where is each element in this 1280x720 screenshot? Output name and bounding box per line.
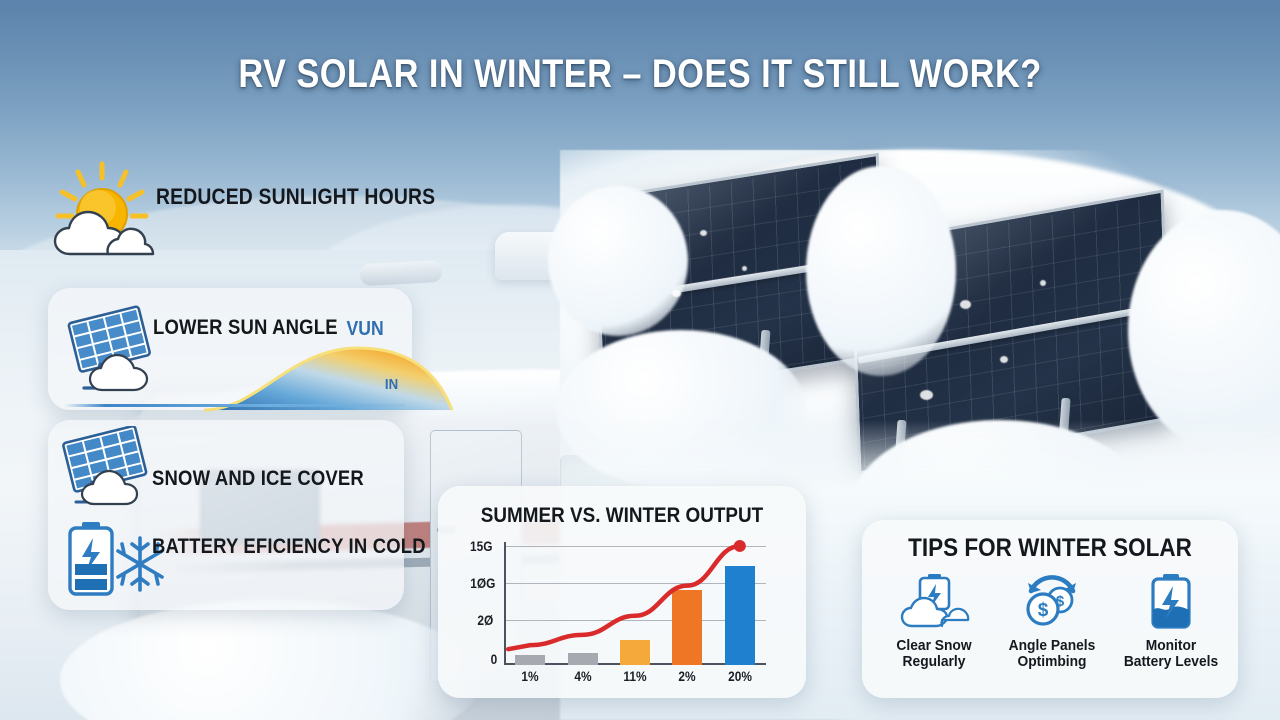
- infographic-canvas: RV SOLAR IN WINTER – DOES IT STILL WORK?…: [0, 0, 1280, 720]
- tip-label-line2: Regularly: [881, 654, 988, 670]
- snow-speck: [742, 266, 747, 271]
- x-tick-label: 2%: [672, 668, 703, 684]
- trend-line: [504, 538, 766, 665]
- battery-level-icon: [1141, 572, 1201, 632]
- chart-card-summer-vs-winter-output[interactable]: SUMMER VS. WINTER OUTPUT 15G 1ØG 2Ø 0 1%…: [438, 486, 806, 698]
- snow-speck: [920, 390, 933, 400]
- snow-speck: [1040, 280, 1046, 286]
- feature-label: SNOW AND ICE COVER: [152, 467, 364, 491]
- tip-label-line2: Battery Levels: [1115, 654, 1227, 670]
- x-tick-labels: 1%4%11%2%20%: [504, 668, 766, 690]
- chart-title: SUMMER VS. WINTER OUTPUT: [456, 504, 787, 528]
- tip-label-line1: Clear Snow: [881, 638, 988, 654]
- x-tick-label: 1%: [515, 668, 546, 684]
- svg-text:$: $: [1038, 600, 1049, 621]
- x-tick-label: 4%: [567, 668, 598, 684]
- snow-drift: [548, 186, 688, 336]
- snow-speck: [960, 300, 971, 309]
- sun-arc-summer-label: VUN: [347, 318, 384, 341]
- tip-monitor-battery-levels[interactable]: Monitor Battery Levels: [1110, 572, 1232, 670]
- tip-label: Clear Snow Regularly: [881, 638, 988, 670]
- y-tick-label: 1ØG: [470, 575, 495, 591]
- tip-clear-snow-regularly[interactable]: Clear Snow Regularly: [876, 572, 992, 670]
- card-tips-for-winter-solar[interactable]: TIPS FOR WINTER SOLAR Clear Snow Regular…: [862, 520, 1238, 698]
- page-title: RV SOLAR IN WINTER – DOES IT STILL WORK?: [90, 52, 1191, 97]
- solar-panel-cloud-icon: [62, 302, 162, 398]
- solar-panel-snow-icon: [58, 426, 156, 506]
- tip-angle-panels-optimbing[interactable]: $ $ Angle Panels Optimbing: [994, 572, 1110, 670]
- snow-speck: [1000, 356, 1008, 363]
- feature-label: REDUCED SUNLIGHT HOURS: [156, 184, 435, 210]
- snow-speck: [700, 230, 707, 236]
- tip-label: Monitor Battery Levels: [1115, 638, 1227, 670]
- trend-line-path: [508, 546, 740, 649]
- snow-drift: [806, 166, 956, 376]
- tip-label: Angle Panels Optimbing: [999, 638, 1106, 670]
- feature-label: BATTERY EFICIENCY IN COLD: [152, 535, 426, 559]
- tip-label-line1: Angle Panels: [999, 638, 1106, 654]
- sun-behind-cloud-icon: [46, 158, 156, 266]
- y-tick-label: 2Ø: [477, 612, 493, 628]
- y-tick-label: 0: [491, 651, 498, 667]
- tip-label-line2: Optimbing: [999, 654, 1106, 670]
- sun-path-horizon-line: [64, 404, 406, 407]
- card-snow-and-battery[interactable]: SNOW AND ICE COVER BATTERY EFICIENCY IN …: [48, 420, 404, 610]
- snow-speck: [672, 290, 681, 297]
- card-lower-sun-angle[interactable]: LOWER SUN ANGLE VUN IN: [48, 288, 412, 410]
- trend-line-end-marker: [734, 540, 746, 552]
- battery-bolt-cloud-icon: [898, 572, 970, 632]
- feature-reduced-sunlight-hours[interactable]: REDUCED SUNLIGHT HOURS: [46, 158, 426, 268]
- tips-title: TIPS FOR WINTER SOLAR: [881, 534, 1219, 563]
- coins-rotate-icon: $ $: [1016, 572, 1088, 632]
- sun-arc-winter-label: IN: [385, 376, 398, 393]
- y-tick-label: 15G: [470, 538, 492, 554]
- x-tick-label: 20%: [724, 668, 755, 684]
- x-tick-label: 11%: [620, 668, 651, 684]
- tip-label-line1: Monitor: [1115, 638, 1227, 654]
